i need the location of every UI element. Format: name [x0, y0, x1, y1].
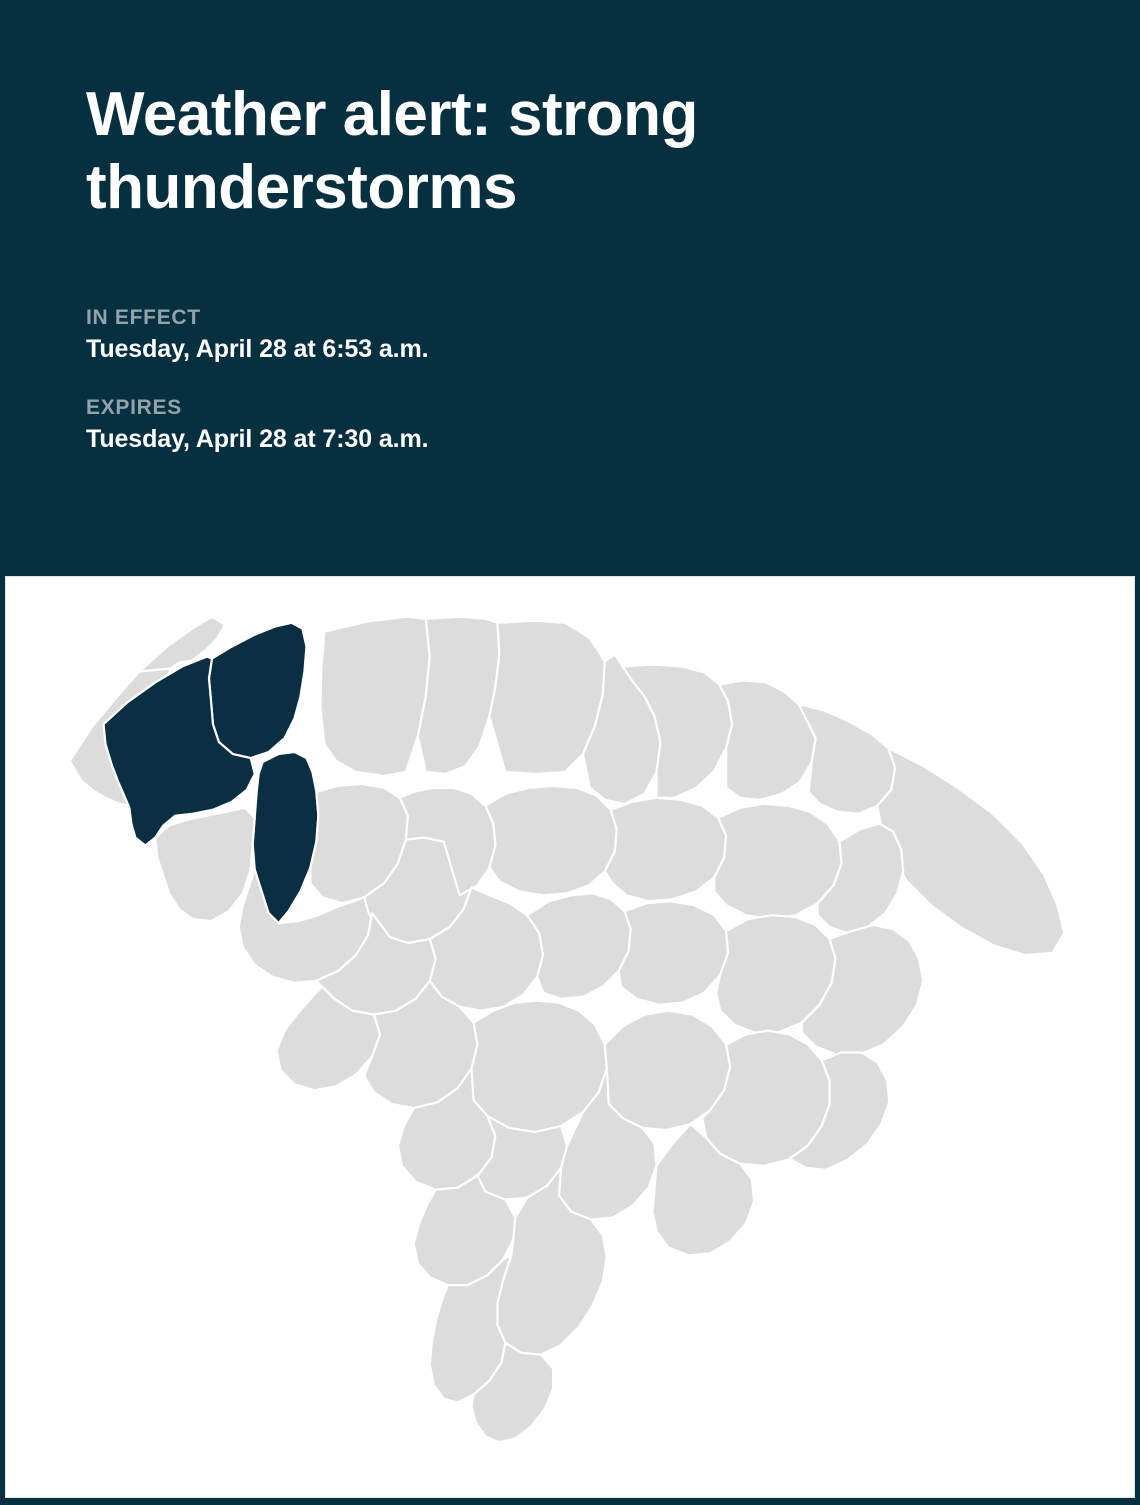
expires-value: Tuesday, April 28 at 7:30 a.m. — [86, 423, 886, 455]
county-spartanburg — [320, 617, 429, 776]
county-horry — [877, 748, 1064, 955]
county-marlboro — [719, 680, 815, 799]
county-kershaw — [485, 786, 616, 895]
map-inner-frame — [5, 576, 1135, 1498]
county-sumter — [619, 901, 728, 1004]
page-title: Weather alert: strong thunderstorms — [86, 78, 846, 224]
county-abbeville — [155, 808, 254, 921]
expires-label: EXPIRES — [86, 395, 886, 421]
county-cherokee — [418, 617, 500, 774]
south-carolina-county-map — [6, 577, 1134, 1497]
alert-timing-block: IN EFFECT Tuesday, April 28 at 6:53 a.m.… — [86, 305, 886, 455]
weather-alert-graphic: Weather alert: strong thunderstorms IN E… — [0, 0, 1140, 1505]
county-dillon — [799, 704, 895, 813]
expires-group: EXPIRES Tuesday, April 28 at 7:30 a.m. — [86, 395, 886, 455]
county-layer-base — [70, 617, 1065, 1443]
map-panel — [0, 574, 1140, 1505]
county-richland — [527, 893, 630, 998]
in-effect-group: IN EFFECT Tuesday, April 28 at 6:53 a.m. — [86, 305, 886, 365]
alert-header: Weather alert: strong thunderstorms IN E… — [0, 0, 1140, 574]
county-pickens-alerted — [209, 623, 306, 758]
county-darlington — [605, 798, 726, 901]
in-effect-value: Tuesday, April 28 at 6:53 a.m. — [86, 333, 886, 365]
in-effect-label: IN EFFECT — [86, 305, 886, 331]
